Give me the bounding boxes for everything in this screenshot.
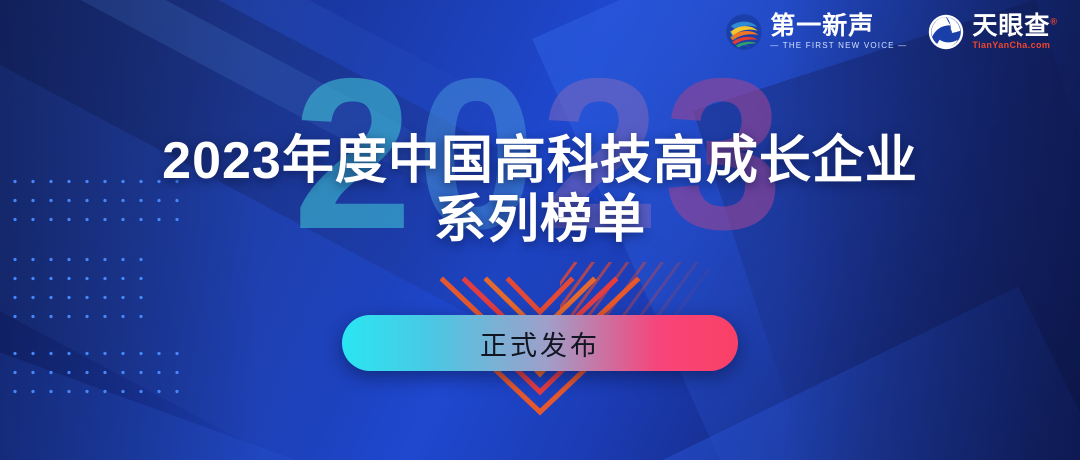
dot-grid-left-lower — [6, 344, 182, 402]
diagonal-band-mid-right-1 — [532, 0, 1080, 460]
diagonal-band-top-left-1 — [0, 0, 491, 460]
edge-shade-right — [780, 0, 1080, 460]
trademark-symbol: ® — [1050, 16, 1058, 26]
edge-shade-left — [0, 0, 260, 460]
watermark-digit-1: 2 — [293, 46, 417, 261]
banner-title: 2023年度中国高科技高成长企业 系列榜单 — [0, 132, 1080, 250]
title-line-2: 系列榜单 — [0, 191, 1080, 250]
camera-aperture-icon — [927, 13, 965, 51]
release-status-label: 正式发布 — [480, 324, 600, 363]
logo-diyixinsheng-en: — THE FIRST NEW VOICE — — [770, 41, 907, 50]
logo-tianyancha-en: TianYanCha.com — [972, 40, 1058, 50]
logo-diyixinsheng-cn: 第一新声 — [770, 14, 907, 40]
swirl-globe-icon — [725, 13, 763, 51]
logo-diyixinsheng[interactable]: 第一新声 — THE FIRST NEW VOICE — — [725, 13, 907, 51]
diagonal-band-bottom-right — [371, 287, 1080, 460]
logo-tianyancha-cn: 天眼查® — [972, 14, 1058, 40]
award-announcement-banner: 2023 第一新声 — THE FIRST NEW VOICE — — [0, 0, 1080, 460]
dot-grid-left-top — [6, 172, 182, 230]
release-status-pill[interactable]: 正式发布 — [342, 315, 738, 371]
diagonal-band-mid-right-2 — [693, 0, 1080, 460]
watermark-digit-4: 3 — [664, 46, 788, 261]
dot-grid-left-middle — [6, 250, 146, 328]
logo-bar: 第一新声 — THE FIRST NEW VOICE — 天眼查® TianYa… — [725, 13, 1058, 51]
watermark-digit-2: 0 — [416, 46, 540, 261]
logo-tianyancha-cn-text: 天眼查 — [972, 12, 1050, 40]
title-line-1: 2023年度中国高科技高成长企业 — [0, 132, 1080, 191]
background-decoration-layer — [0, 0, 1080, 460]
watermark-digit-3: 2 — [540, 46, 664, 261]
logo-tianyancha[interactable]: 天眼查® TianYanCha.com — [927, 13, 1058, 51]
diagonal-band-top-left-3 — [0, 0, 558, 244]
year-watermark: 2023 — [0, 46, 1080, 261]
